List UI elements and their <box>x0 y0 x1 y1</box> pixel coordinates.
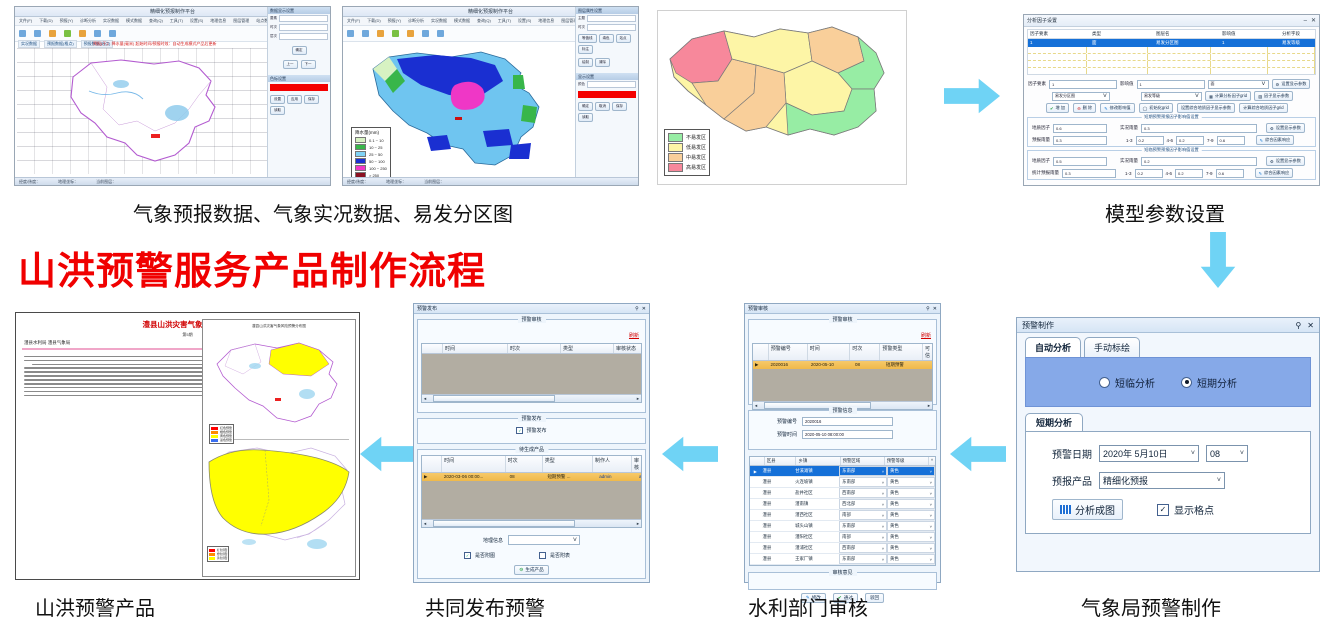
table-row[interactable]: 澧县澧阳社区南部˅黄色˅ <box>750 532 935 543</box>
cell-author: admin <box>597 473 637 481</box>
color-swatch[interactable] <box>578 91 636 98</box>
layer-btn-5[interactable]: 绘制 <box>578 58 593 67</box>
close-icon[interactable]: ✕ <box>1307 321 1314 330</box>
factor-grid[interactable]: 因子要素 类型 图层名 影响值 分析字段 1 面 易发分区图 1 易发等级 <box>1027 29 1316 75</box>
cell-type: 面 <box>1090 39 1154 47</box>
legend-item: 中易发区 <box>668 153 706 162</box>
layer-properties-panel[interactable]: 图层属性设置 主题 时次 等值线 填色 站点 标注 绘制 清除 显示设置 颜色 <box>575 7 638 185</box>
button-label: 设置显示参数 <box>1281 81 1306 87</box>
layer-value: 易发分区图 <box>1055 93 1075 99</box>
cell-town: 盐井社区 <box>793 489 839 497</box>
layer-btn-4[interactable]: 标注 <box>578 45 593 54</box>
geo-factor-input[interactable]: 0.6 <box>1053 124 1107 133</box>
rainfall-choropleth-map <box>363 45 568 173</box>
chevron-down-icon: ˅ <box>930 535 932 540</box>
cell-hour: 08 <box>853 361 884 369</box>
hour-input[interactable] <box>587 24 636 31</box>
rain-input[interactable]: 0.2 <box>1141 157 1257 166</box>
cell-level[interactable]: 黄色˅ <box>887 543 935 553</box>
forecast-input[interactable]: 0.3 <box>1062 169 1116 178</box>
enlarged-map-legend: 红色预警 橙色预警 黄色预警 <box>207 546 229 562</box>
legend-swatch-not-prone <box>668 133 683 142</box>
delete-button[interactable]: ⊖ 删 除 <box>1073 103 1096 113</box>
t1-input[interactable]: 0.2 <box>1136 136 1164 145</box>
warning-time-row[interactable]: 预警时间 2020-05-10 08:00:00 <box>777 430 936 439</box>
type-value: 面 <box>1211 81 1215 87</box>
arrow-left-to-product <box>360 436 416 472</box>
legend-swatch <box>355 158 366 164</box>
analyze-button[interactable]: 分析成图 <box>1052 499 1123 520</box>
legend-swatch-orange <box>211 431 218 434</box>
susceptibility-zone-map[interactable]: 不易发区 低易发区 中易发区 高易发区 <box>657 10 907 185</box>
menu-item[interactable]: 预报(Y) <box>60 18 73 24</box>
publish-checkbox[interactable]: ✓ <box>516 427 523 434</box>
menu-item[interactable]: 下载(D) <box>367 18 381 24</box>
color-btn-1[interactable]: 设置 <box>270 95 285 104</box>
calc-geo-grid-button[interactable]: 计算综合地质因子grid <box>1239 103 1287 113</box>
chevron-down-icon: ˅ <box>882 557 884 562</box>
env-settings-icon[interactable] <box>79 30 86 37</box>
style-btn-1[interactable]: 确定 <box>578 102 593 111</box>
menu-item[interactable]: 实况数据 <box>431 18 447 24</box>
short-term-form[interactable]: 预警日期 2020年 5月10日 ˅ 08 ˅ 预报产品 精细化预报 ˅ 分析成… <box>1025 431 1311 534</box>
date-value: 2020年 5月10日 <box>1103 447 1168 460</box>
color-input[interactable] <box>587 81 636 88</box>
style-btn-2[interactable]: 取消 <box>595 102 610 111</box>
g1-row-2[interactable]: 预报雨量 0.3 1-3 0.2 4-6 0.2 7-9 0.6 ✎ 综合因素响… <box>1028 134 1315 146</box>
color-btn-3[interactable]: 保存 <box>304 95 319 104</box>
minimize-icon[interactable]: – <box>1304 18 1307 24</box>
legend-label: 0.1 ~ 10 <box>369 138 384 143</box>
layer-btn-6[interactable]: 清除 <box>595 58 610 67</box>
menu-item[interactable]: 实况数据 <box>103 18 119 24</box>
new-feature-icon[interactable] <box>19 30 26 37</box>
analysis-action-row[interactable]: 分析成图 ✓ 显示格点 <box>1026 494 1310 525</box>
radio-short-imminent[interactable]: 短临分析 <box>1099 375 1155 390</box>
load-data-icon[interactable] <box>34 30 41 37</box>
page-title-text: 山洪预警服务产品制作流程 <box>18 251 486 293</box>
scrollbar-thumb[interactable] <box>433 395 555 402</box>
table-row[interactable]: 澧县火连坡镇东南部˅黄色˅ <box>750 477 935 488</box>
pencil-icon: ✎ <box>1259 171 1263 176</box>
tab-forecast-grid[interactable]: 预报数据(格点) <box>44 40 77 48</box>
table-row[interactable]: 澧县澧西社区南部˅黄色˅ <box>750 510 935 521</box>
g1-row-1[interactable]: 地质因子 0.6 实况雨量 0.3 ⚙ 设置显示参数 <box>1028 122 1315 134</box>
section-title: 审核意见 <box>828 569 856 576</box>
style-section-header: 显示设置 <box>576 73 638 80</box>
horizontal-scrollbar[interactable]: ◄ ► <box>422 394 641 402</box>
menu-item[interactable]: 查询(Q) <box>477 18 491 24</box>
menu-item[interactable]: 预报(Y) <box>388 18 401 24</box>
menu-item[interactable]: 文件(F) <box>19 18 32 24</box>
layer-select[interactable]: 易发分区图 ˅ <box>1052 92 1110 101</box>
horizontal-scrollbar[interactable]: ◄ ► <box>422 519 641 527</box>
legend-label: 10 ~ 25 <box>369 145 382 150</box>
g2-row-1[interactable]: 地质因子 0.5 实况雨量 0.2 ⚙ 设置显示参数 <box>1028 155 1315 167</box>
chevron-down-icon: ˅ <box>930 502 932 507</box>
menu-item[interactable]: 模式数据 <box>126 18 142 24</box>
table-row[interactable]: 澧县城头山镇东南部˅黄色˅ <box>750 521 935 532</box>
warning-time-label: 预警时间 <box>777 431 797 438</box>
weight-label: 影响值 <box>1120 81 1134 87</box>
setting-label: 层次 <box>270 34 277 39</box>
factor-edit-row-2[interactable]: 易发分区图 ˅ 易发等级 ˅ ▦ 计算分析因子grid ▨ 因子显示参数 <box>1024 90 1319 102</box>
apply-button[interactable]: 确定 <box>292 46 307 55</box>
theme-input[interactable] <box>587 15 636 22</box>
menu-item[interactable]: 地理信息 <box>538 18 554 24</box>
cell-area[interactable]: 东南部˅ <box>839 477 887 487</box>
caption-model-params: 模型参数设置 <box>1000 198 1330 227</box>
init-grid-button[interactable]: ◯ 初始化grid <box>1139 103 1173 113</box>
menu-item[interactable]: 诊断分析 <box>408 18 424 24</box>
table-row[interactable]: ▶澧县甘溪滩镇东南部˅黄色˅ <box>750 466 935 477</box>
rain-label: 实况雨量 <box>1120 125 1138 131</box>
legend-item: 低易发区 <box>668 143 706 152</box>
close-icon[interactable]: ✕ <box>642 306 646 312</box>
level-input[interactable] <box>279 33 328 40</box>
table-body-empty[interactable] <box>753 369 932 401</box>
query-icon[interactable] <box>109 30 116 37</box>
setting-row[interactable]: 层次 <box>268 32 330 41</box>
menu-item[interactable]: 图层管理 <box>233 18 249 24</box>
g2-row-2[interactable]: 统计预报雨量 0.3 1-3 0.2 4-6 0.2 7-9 0.6 ✎ 综合因… <box>1028 167 1315 179</box>
table-row[interactable]: 澧县澧南镇西北部˅黄色˅ <box>750 499 935 510</box>
short-imminent-weight-group: 短临预警预报因子影响值设置 地质因子 0.5 实况雨量 0.2 ⚙ 设置显示参数… <box>1027 150 1316 180</box>
new-feature-icon[interactable] <box>347 30 354 37</box>
gear-icon: ⚙ <box>1270 159 1274 164</box>
t3-input[interactable]: 0.6 <box>1217 136 1245 145</box>
forecast-product-row[interactable]: 预报产品 精细化预报 ˅ <box>1026 467 1310 494</box>
data-display-settings-panel[interactable]: 数据显示设置 要素 时次 层次 确定 上一 下一 色标设置 设置 应用 保存 <box>267 7 330 185</box>
model-parameter-dialog[interactable]: 分析因子设置 – ✕ 因子要素 类型 图层名 影响值 分析字段 1 面 易发分区… <box>1023 14 1320 186</box>
table-row[interactable]: ▶ 2020016 2020-05-10 08 短期预警 <box>753 361 932 369</box>
close-icon[interactable]: ✕ <box>933 306 937 312</box>
cell-county: 澧县 <box>760 533 793 541</box>
scroll-left-icon[interactable]: ◄ <box>753 403 758 408</box>
date-select[interactable]: 2020年 5月10日 ˅ <box>1099 445 1199 462</box>
cell-level[interactable]: 黄色˅ <box>887 477 935 487</box>
cell-town: 澧西社区 <box>793 511 839 519</box>
status-layer: 当前图层： <box>424 179 444 185</box>
tab-manual-draw[interactable]: 手动标绘 <box>1084 337 1140 357</box>
setting-label: 时次 <box>578 25 585 30</box>
cell-town: 甘溪滩镇 <box>793 467 839 475</box>
g1-display-params-button[interactable]: ⚙ 设置显示参数 <box>1266 123 1305 133</box>
layer-btn-3[interactable]: 站点 <box>616 34 631 43</box>
col-type: 类型 <box>543 456 593 472</box>
button-label: 计算综合地质因子grid <box>1243 105 1283 111</box>
table-row[interactable]: 澧县澧浦社区西南部˅黄色˅ <box>750 543 935 554</box>
table-row[interactable]: 澧县王家厂镇东南部˅黄色˅ <box>750 554 935 565</box>
grid-row-empty[interactable] <box>1028 54 1315 61</box>
menu-item[interactable]: 设置(S) <box>190 18 203 24</box>
t2-input[interactable]: 0.2 <box>1175 169 1203 178</box>
screenshot-forecast-data[interactable]: 精细化预报制作平台 文件(F) 下载(D) 预报(Y) 诊断分析 实况数据 模式… <box>14 6 331 186</box>
element-input[interactable] <box>279 15 328 22</box>
legend-label: 低易发区 <box>686 144 706 151</box>
pin-icon[interactable]: ⚲ <box>926 306 930 312</box>
t1-input[interactable]: 0.2 <box>1135 169 1163 178</box>
legend-item: 高易发区 <box>668 163 706 172</box>
next-button[interactable]: 下一 <box>301 60 316 69</box>
refresh-icon[interactable] <box>94 30 101 37</box>
layer-btn-1[interactable]: 等值线 <box>578 34 597 43</box>
warning-publish-panel[interactable]: 预警发布 ⚲ ✕ 预警审核 刷新 时间 时次 类型 审核状态 ◄ ► 预警发 <box>413 303 650 583</box>
grid-row-empty[interactable] <box>1028 68 1315 74</box>
calc-factor-grid-button[interactable]: ▦ 计算分析因子grid <box>1205 91 1251 101</box>
checkbox-label: 是否附图 <box>475 552 495 559</box>
publish-checkbox-row[interactable]: ✓ 预警发布 <box>418 427 645 434</box>
circle-icon: ◯ <box>1143 106 1148 111</box>
button-label: 设置综合地质因子显示参数 <box>1181 105 1231 111</box>
cell-type: 短期预警 ... <box>545 473 597 481</box>
factor-edit-row-1[interactable]: 因子要素 1 影响值 1 面 ˅ ⚙ 设置显示参数 <box>1024 78 1319 90</box>
zone-map-graphic <box>662 19 904 143</box>
warning-info-section: 预警信息 预警编号 2020016 预警时间 2020-05-10 08:00:… <box>748 410 937 450</box>
g1-combine-button[interactable]: ✎ 综合因素响应 <box>1256 135 1295 145</box>
g2-combine-button[interactable]: ✎ 综合因素响应 <box>1255 168 1294 178</box>
prev-button[interactable]: 上一 <box>283 60 298 69</box>
forecast-label: 统计预报雨量 <box>1032 170 1059 176</box>
menu-item[interactable]: 下载(D) <box>39 18 53 24</box>
analysis-type-box[interactable]: 短临分析 短期分析 <box>1025 357 1311 407</box>
cell-level[interactable]: 黄色˅ <box>887 521 935 531</box>
scroll-right-icon[interactable]: ► <box>927 403 932 408</box>
pending-products-table[interactable]: 时间 时次 类型 制作人 审核 ▶ 2020-03-06 00:00... 08… <box>421 455 642 528</box>
setting-row[interactable]: 颜色 <box>576 80 638 89</box>
cell-level[interactable]: 黄色˅ <box>887 510 935 520</box>
show-grid-checkbox-row[interactable]: ✓ 显示格点 <box>1157 502 1214 517</box>
scroll-left-icon[interactable]: ◄ <box>422 521 427 526</box>
warning-no-input[interactable]: 2020016 <box>802 417 893 426</box>
table-row[interactable]: 澧县盐井社区西南部˅黄色˅ <box>750 488 935 499</box>
menu-item[interactable]: 文件(F) <box>347 18 360 24</box>
geo-info-row[interactable]: 地理信息 ˅ <box>418 535 645 545</box>
review-table[interactable]: 预警编号 时间 时次 预警类型 可信 ▶ 2020016 2020-05-10 … <box>752 343 933 410</box>
refresh-link[interactable]: 刷新 <box>629 333 639 339</box>
style-btn-3[interactable]: 保存 <box>612 102 627 111</box>
hour-input[interactable] <box>279 24 328 31</box>
col-town: 乡镇 <box>796 457 840 465</box>
generate-product-button[interactable]: ⚙ 生成产品 <box>514 565 549 575</box>
refresh-icon[interactable] <box>422 30 429 37</box>
towns-rows-container[interactable]: ▶澧县甘溪滩镇东南部˅黄色˅澧县火连坡镇东南部˅黄色˅澧县盐井社区西南部˅黄色˅… <box>750 466 935 565</box>
legend-swatch <box>355 144 366 150</box>
factor-input[interactable]: 1 <box>1049 80 1117 89</box>
caption-data-sources: 气象预报数据、气象实况数据、易发分区图 <box>0 198 646 227</box>
factor-display-params-button[interactable]: ▨ 因子显示参数 <box>1254 91 1293 101</box>
warning-review-panel[interactable]: 预警审核 ⚲ ✕ 预警审核 刷新 预警编号 时间 时次 预警类型 可信 ▶ 20… <box>744 303 941 583</box>
scroll-right-icon[interactable]: ► <box>636 396 641 401</box>
attach-table-checkbox[interactable] <box>539 552 546 559</box>
set-display-params-button[interactable]: ⚙ 设置显示参数 <box>1272 79 1311 89</box>
caption-make: 气象局预警制作 <box>1056 592 1246 621</box>
chevron-down-icon: ˅ <box>882 502 884 507</box>
geo-factor-input[interactable]: 0.5 <box>1053 157 1107 166</box>
cell-area[interactable]: 西南部˅ <box>839 488 887 498</box>
table-body-empty[interactable] <box>422 481 641 519</box>
table-row[interactable]: ▶ 2020-03-06 00:00... 08 短期预警 ... admin … <box>422 473 641 481</box>
window-title-text: 精细化预报制作平台 <box>150 8 195 15</box>
screenshot-rainfall-map[interactable]: 精细化预报制作平台 文件(F) 下载(D) 预报(Y) 诊断分析 实况数据 模式… <box>342 6 639 186</box>
status-geo: 地理坐标： <box>386 179 406 185</box>
tab-observation[interactable]: 实况数据 <box>18 40 40 48</box>
cell-field: 易发等级 <box>1280 39 1315 47</box>
cell-area[interactable]: 东南部˅ <box>839 466 887 476</box>
cell-area[interactable]: 东南部˅ <box>839 521 887 531</box>
col-county: 区县 <box>765 457 797 465</box>
set-geo-display-params-button[interactable]: 设置综合地质因子显示参数 <box>1177 103 1235 113</box>
type-select[interactable]: 面 ˅ <box>1208 80 1269 89</box>
review-section: 预警审核 刷新 时间 时次 类型 审核状态 ◄ ► <box>417 319 646 413</box>
review-table[interactable]: 时间 时次 类型 审核状态 ◄ ► <box>421 343 642 403</box>
legend-label: 100 ~ 250 <box>369 166 387 171</box>
chevron-down-icon: ˅ <box>882 513 884 518</box>
button-label: 分析成图 <box>1075 502 1115 517</box>
date-label: 预警日期 <box>1052 446 1092 461</box>
radio-short-term[interactable]: 短期分析 <box>1181 375 1237 390</box>
setting-row[interactable]: 时次 <box>576 23 638 32</box>
chevron-down-icon: ˅ <box>882 480 884 485</box>
warning-product-document[interactable]: 澧县山洪灾害气象风险预警 第5期 澧县水利局 澧县气象局 5月10日08时00分… <box>15 312 360 580</box>
hour-select[interactable]: 08 ˅ <box>1206 445 1248 462</box>
color-btn-2[interactable]: 应用 <box>287 95 302 104</box>
cell-level[interactable]: 黄色˅ <box>887 532 935 542</box>
attachment-options-row[interactable]: ✓ 是否附图 是否附表 <box>464 552 645 559</box>
color-swatch[interactable] <box>270 84 328 91</box>
correct-feature-icon[interactable] <box>49 30 56 37</box>
attach-map-checkbox[interactable]: ✓ <box>464 552 471 559</box>
scroll-right-icon[interactable]: ► <box>636 521 641 526</box>
chevron-down-icon: ˅ <box>882 469 884 474</box>
add-button[interactable]: ✔ 增 加 <box>1046 103 1069 113</box>
modify-weight-button[interactable]: ✎ 修改影响值 <box>1100 103 1134 113</box>
legend-label: 中易发区 <box>686 154 706 161</box>
save-icon[interactable] <box>392 30 399 37</box>
rain-input[interactable]: 0.3 <box>1141 124 1257 133</box>
towns-grid[interactable]: 区县 乡镇 预警区域 预警等级 ^ ▶澧县甘溪滩镇东南部˅黄色˅澧县火连坡镇东南… <box>749 456 936 566</box>
save-icon[interactable] <box>64 30 71 37</box>
grid-row-selected[interactable]: 1 面 易发分区图 1 易发等级 <box>1028 39 1315 47</box>
forecast-input[interactable]: 0.3 <box>1053 136 1107 145</box>
tab-short-term-analysis[interactable]: 短期分析 <box>1025 413 1083 431</box>
chevron-down-icon: ˅ <box>882 524 884 529</box>
menu-item[interactable]: 工具(T) <box>170 18 183 24</box>
warning-no-row[interactable]: 预警编号 2020016 <box>777 417 936 426</box>
menu-item[interactable]: 设置(S) <box>518 18 531 24</box>
setting-row[interactable]: 要素 <box>268 14 330 23</box>
correct-feature-icon[interactable] <box>377 30 384 37</box>
menu-item[interactable]: 地理信息 <box>210 18 226 24</box>
geo-select[interactable]: ˅ <box>508 535 580 545</box>
menu-item[interactable]: 诊断分析 <box>80 18 96 24</box>
factor-action-row[interactable]: ✔ 增 加 ⊖ 删 除 ✎ 修改影响值 ◯ 初始化grid 设置综合地质因子显示… <box>1024 102 1319 114</box>
status-coord: 经度/纬度： <box>347 179 368 185</box>
col-selector <box>422 456 442 472</box>
cell-area[interactable]: 东南部˅ <box>839 554 887 564</box>
field-select[interactable]: 易发等级 ˅ <box>1141 92 1202 101</box>
button-label: 修改影响值 <box>1110 105 1131 111</box>
inner-tabs[interactable]: 短期分析 <box>1017 407 1319 431</box>
scrollbar-thumb[interactable] <box>433 520 575 527</box>
layer-btn-2[interactable]: 填色 <box>599 34 614 43</box>
menu-item[interactable]: 查询(Q) <box>149 18 163 24</box>
color-btn-4[interactable]: 读取 <box>270 106 285 115</box>
cell-area[interactable]: 西南部˅ <box>839 543 887 553</box>
chevron-down-icon: ˅ <box>930 469 932 474</box>
load-data-icon[interactable] <box>362 30 369 37</box>
style-btn-4[interactable]: 读取 <box>578 113 593 122</box>
cell-level[interactable]: 黄色˅ <box>887 488 935 498</box>
t2-input[interactable]: 0.2 <box>1176 136 1204 145</box>
env-settings-icon[interactable] <box>407 30 414 37</box>
cell-level[interactable]: 黄色˅ <box>887 554 935 564</box>
cell-level[interactable]: 黄色˅ <box>887 499 935 509</box>
legend-swatch <box>355 165 366 171</box>
chevron-down-icon: ˅ <box>573 537 577 544</box>
show-grid-checkbox[interactable]: ✓ <box>1157 504 1169 516</box>
query-icon[interactable] <box>437 30 444 37</box>
mode-tabs[interactable]: 自动分析 手动标绘 <box>1017 333 1319 357</box>
button-label: 生成产品 <box>525 567 543 573</box>
minus-circle-icon: ⊖ <box>1077 106 1081 111</box>
warning-make-panel[interactable]: 预警制作 ⚲ ✕ 自动分析 手动标绘 短临分析 短期分析 短期分析 预警日期 <box>1016 317 1320 572</box>
cell-area[interactable]: 南部˅ <box>839 532 887 542</box>
grid-row-empty[interactable] <box>1028 47 1315 54</box>
t3-input[interactable]: 0.6 <box>1216 169 1244 178</box>
warning-date-row[interactable]: 预警日期 2020年 5月10日 ˅ 08 ˅ <box>1026 440 1310 467</box>
refresh-link[interactable]: 刷新 <box>921 333 931 339</box>
col-selector <box>422 344 443 353</box>
table-header-row: 时间 时次 类型 审核状态 <box>422 344 641 354</box>
grid-row-empty[interactable] <box>1028 61 1315 68</box>
scroll-left-icon[interactable]: ◄ <box>422 396 427 401</box>
chevron-down-icon: ˅ <box>882 491 884 496</box>
setting-row[interactable]: 主题 <box>576 14 638 23</box>
col-scroll: ^ <box>929 457 935 465</box>
legend-item: 10 ~ 25 <box>355 144 387 150</box>
product-select[interactable]: 精细化预报 ˅ <box>1099 472 1225 489</box>
cell-area[interactable]: 南部˅ <box>839 510 887 520</box>
pin-icon[interactable]: ⚲ <box>1295 321 1301 330</box>
document-map-panel: 澧县山洪灾害气象风险预警分布图 红色预警 橙色预警 黄色预警 <box>202 319 356 577</box>
rain-label: 实况雨量 <box>1120 158 1138 164</box>
pin-icon[interactable]: ⚲ <box>635 306 639 312</box>
close-icon[interactable]: ✕ <box>1311 17 1316 24</box>
weight-input[interactable]: 1 <box>1137 80 1205 89</box>
review-list-section: 预警审核 刷新 预警编号 时间 时次 预警类型 可信 ▶ 2020016 202… <box>748 319 937 405</box>
radio-indicator <box>1181 377 1192 388</box>
table-body-empty[interactable] <box>422 354 641 394</box>
menu-item[interactable]: 模式数据 <box>454 18 470 24</box>
cell-area[interactable]: 西北部˅ <box>839 499 887 509</box>
cell-county: 澧县 <box>760 478 793 486</box>
warning-time-input[interactable]: 2020-05-10 08:00:00 <box>802 430 893 439</box>
legend-label: 高易发区 <box>686 164 706 171</box>
tab-auto-analysis[interactable]: 自动分析 <box>1025 337 1081 357</box>
setting-row[interactable]: 时次 <box>268 23 330 32</box>
checkbox-label: 显示格点 <box>1174 502 1214 517</box>
cell-level[interactable]: 黄色˅ <box>887 466 935 476</box>
col-type: 类型 <box>561 344 614 353</box>
g2-display-params-button[interactable]: ⚙ 设置显示参数 <box>1266 156 1305 166</box>
legend-swatch <box>355 137 366 143</box>
cell-town: 城头山镇 <box>793 522 839 530</box>
menu-item[interactable]: 工具(T) <box>498 18 511 24</box>
status-bar: 经度/纬度： 地理坐标： 当前图层： <box>343 177 638 185</box>
short-term-weight-group: 短期预警预报因子影响值设置 地质因子 0.6 实况雨量 0.3 ⚙ 设置显示参数… <box>1027 117 1316 147</box>
chevron-down-icon: ˅ <box>930 524 932 529</box>
